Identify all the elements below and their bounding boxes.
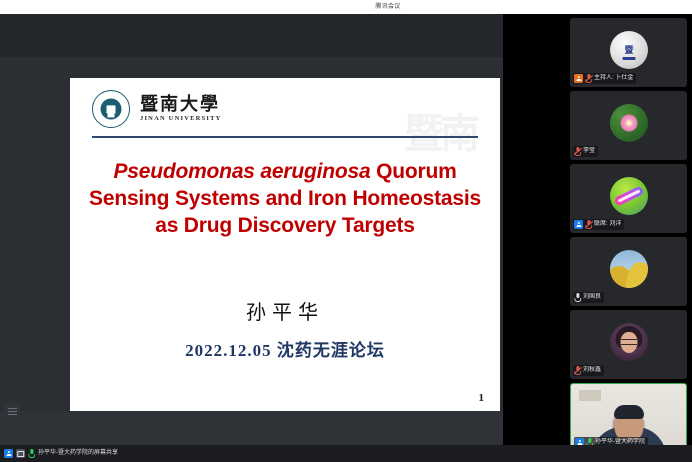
participant-name: 联席: 刘洋 [594,220,621,229]
seal-avatar-bar [622,57,635,60]
university-name-block: 暨南大學 JINAN UNIVERSITY [140,95,222,123]
mic-body [576,293,579,298]
person-glyph-icon [576,76,581,81]
slide-author: 孙平华 [84,296,486,325]
background-wall-frame [579,390,601,401]
person-glyph-icon [6,451,11,456]
shared-screen-stage[interactable]: 暨南 暨南大學 JINAN UNIVERSITY Pseudomonas aer… [0,14,565,445]
mic-body [588,438,591,443]
microphone-muted-icon [574,147,581,156]
neon-avatar [610,177,648,215]
me-badge-icon [574,220,583,229]
participant-tile[interactable]: 李莹 [570,91,687,160]
participant-name: 主持人: 卜仕金 [594,74,633,83]
slide-page-number: 1 [479,392,485,404]
participant-label: 李莹 [573,146,598,157]
mic-stand [585,225,592,229]
capture-band-right [503,14,565,445]
participant-tile[interactable]: 刘秋鑫 [570,310,687,379]
slide-title: Pseudomonas aeruginosa Quorum Sensing Sy… [84,158,486,239]
mic-stand [574,152,581,156]
mic-body [576,366,579,371]
participant-name: 刘秋鑫 [583,366,601,375]
mic-stand [585,79,592,83]
host-badge-icon [574,74,583,83]
capture-band-bottom [0,411,565,445]
capture-band-top [0,14,565,57]
participant-label: 主持人: 卜仕金 [573,73,636,84]
university-name-en: JINAN UNIVERSITY [140,116,222,123]
app-title: 腾讯会议 [375,4,400,10]
toolbar-handle-line [8,411,17,412]
presentation-slide: 暨南 暨南大學 JINAN UNIVERSITY Pseudomonas aer… [70,78,500,411]
person-glyph-icon [576,222,581,227]
participant-tile[interactable]: 刘国良 [570,237,687,306]
microphone-icon [574,293,581,302]
landscape-avatar [610,250,648,288]
university-logo-icon [92,90,130,128]
mic-body [587,220,590,225]
microphone-muted-icon [574,366,581,375]
slide-header-divider [92,136,478,138]
participant-filmstrip[interactable]: 暨主持人: 卜仕金李莹联席: 刘洋刘国良刘秋鑫孙平华-暨大药学院 [565,14,692,445]
mic-stand [574,371,581,375]
participant-name: 李莹 [583,147,595,156]
toolbar-handle-line [8,408,17,409]
microphone-muted-icon [585,74,592,83]
seal-avatar-text: 暨 [610,31,648,69]
university-name-cn: 暨南大學 [140,95,222,113]
participant-tile[interactable]: 暨主持人: 卜仕金 [570,18,687,87]
person-hair [614,405,644,419]
share-status-text: 孙平华-暨大药学院的屏幕共享 [38,449,118,458]
portrait-avatar [610,323,648,361]
app-titlebar: 腾讯会议 [0,0,692,14]
microphone-muted-icon [585,220,592,229]
screen-share-status-bar: 孙平华-暨大药学院的屏幕共享 [0,445,692,462]
participant-label: 联席: 刘洋 [573,219,624,230]
slide-header: 暨南大學 JINAN UNIVERSITY [92,90,222,128]
toolbar-handle-line [8,414,17,415]
portrait-glasses-icon [621,339,637,345]
participant-name: 刘国良 [583,293,601,302]
participant-label: 刘秋鑫 [573,365,604,376]
mic-body [576,147,579,152]
mic-stand [28,454,35,458]
microphone-icon [28,449,35,458]
lotus-avatar [610,104,648,142]
mic-stand [574,298,581,302]
participant-tile[interactable]: 联席: 刘洋 [570,164,687,233]
mic-body [30,449,33,454]
seal-avatar: 暨 [610,31,648,69]
collapsed-toolbar-handle[interactable] [4,403,20,419]
mic-body [587,74,590,79]
participant-tile[interactable]: 孙平华-暨大药学院 [570,383,687,452]
screen-share-icon [16,449,25,458]
me-badge-icon [4,449,13,458]
slide-title-species: Pseudomonas aeruginosa [113,160,370,183]
slide-event-line: 2022.12.05 沈药无涯论坛 [84,336,486,361]
participant-label: 刘国良 [573,292,604,303]
